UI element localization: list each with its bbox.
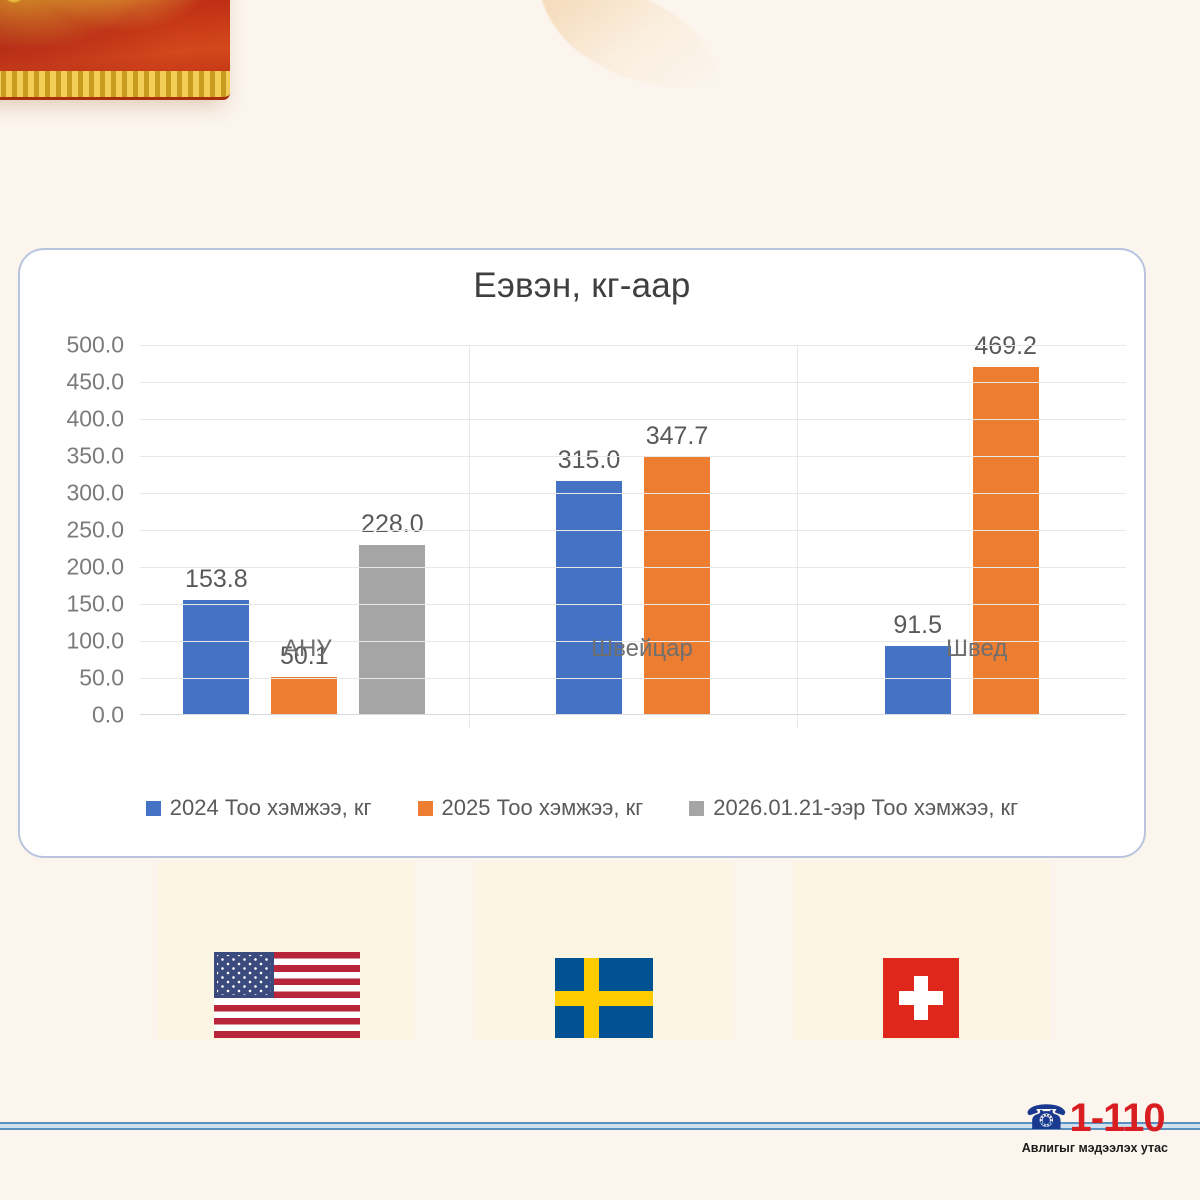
y-axis: 500.0450.0400.0350.0300.0250.0200.0150.0… bbox=[42, 345, 132, 715]
gridline bbox=[140, 419, 1126, 420]
bar-value-label: 228.0 bbox=[361, 510, 424, 539]
bar[interactable] bbox=[271, 677, 337, 714]
gridline bbox=[140, 493, 1126, 494]
hotline-number: 1-110 bbox=[1070, 1098, 1165, 1138]
united-states-flag-icon bbox=[214, 952, 360, 1038]
bar-value-label: 315.0 bbox=[558, 446, 621, 475]
chart-card: Еэвэн, кг-аар 500.0450.0400.0350.0300.02… bbox=[18, 248, 1146, 858]
legend-label: 2026.01.21-ээр Тоо хэмжээ, кг bbox=[713, 795, 1018, 821]
flag-strip bbox=[158, 862, 1050, 1040]
gridline bbox=[140, 345, 1126, 346]
chart-legend: 2024 Тоо хэмжээ, кг2025 Тоо хэмжээ, кг20… bbox=[20, 795, 1144, 821]
y-axis-tick: 400.0 bbox=[66, 406, 124, 433]
plot-wrapper: 500.0450.0400.0350.0300.0250.0200.0150.0… bbox=[42, 345, 1126, 735]
legend-swatch-icon bbox=[146, 801, 161, 816]
switzerland-flag-icon bbox=[883, 958, 959, 1038]
bar-value-label: 469.2 bbox=[974, 332, 1037, 361]
y-axis-tick: 250.0 bbox=[66, 517, 124, 544]
gridline bbox=[140, 604, 1126, 605]
gridline bbox=[140, 382, 1126, 383]
header-ornament bbox=[0, 0, 1200, 200]
y-axis-tick: 0.0 bbox=[92, 702, 124, 729]
legend-label: 2024 Тоо хэмжээ, кг bbox=[170, 795, 372, 821]
gridline bbox=[140, 567, 1126, 568]
bar[interactable] bbox=[556, 481, 622, 714]
y-axis-tick: 100.0 bbox=[66, 628, 124, 655]
bar[interactable] bbox=[359, 545, 425, 714]
bar-value-label: 153.8 bbox=[185, 565, 248, 594]
y-axis-tick: 450.0 bbox=[66, 369, 124, 396]
y-axis-tick: 200.0 bbox=[66, 554, 124, 581]
gridline bbox=[140, 456, 1126, 457]
phone-icon: ☎ bbox=[1025, 1101, 1067, 1135]
y-axis-tick: 500.0 bbox=[66, 332, 124, 359]
x-axis-tick: АНУ bbox=[140, 635, 475, 663]
ornament-crown-icon bbox=[0, 0, 230, 100]
hotline-logo: ☎ 1-110 Авлигыг мэдээлэх утас bbox=[1022, 1098, 1168, 1155]
flag-panel-sweden bbox=[475, 862, 732, 1040]
gridline bbox=[140, 678, 1126, 679]
x-axis: АНУШвейцарШвед bbox=[140, 635, 1144, 663]
legend-item[interactable]: 2026.01.21-ээр Тоо хэмжээ, кг bbox=[689, 795, 1018, 821]
feather-swoosh-icon bbox=[539, 0, 721, 105]
x-axis-tick: Швейцар bbox=[475, 635, 810, 663]
category-separator bbox=[469, 345, 470, 728]
bar[interactable] bbox=[644, 457, 710, 714]
hotline-tagline: Авлигыг мэдээлэх утас bbox=[1022, 1141, 1168, 1155]
flag-panel-switzerland bbox=[793, 862, 1050, 1040]
footer-divider bbox=[0, 1122, 1200, 1130]
sweden-flag-icon bbox=[555, 958, 653, 1038]
legend-swatch-icon bbox=[418, 801, 433, 816]
flag-panel-united-states bbox=[158, 862, 415, 1040]
x-axis-tick: Швед bbox=[809, 635, 1144, 663]
gridline bbox=[140, 530, 1126, 531]
legend-swatch-icon bbox=[689, 801, 704, 816]
legend-item[interactable]: 2025 Тоо хэмжээ, кг bbox=[418, 795, 644, 821]
y-axis-tick: 300.0 bbox=[66, 480, 124, 507]
bar-value-label: 347.7 bbox=[646, 422, 709, 451]
legend-item[interactable]: 2024 Тоо хэмжээ, кг bbox=[146, 795, 372, 821]
legend-label: 2025 Тоо хэмжээ, кг bbox=[442, 795, 644, 821]
y-axis-tick: 150.0 bbox=[66, 591, 124, 618]
y-axis-tick: 50.0 bbox=[79, 665, 124, 692]
chart-title: Еэвэн, кг-аар bbox=[20, 266, 1144, 306]
y-axis-tick: 350.0 bbox=[66, 443, 124, 470]
category-separator bbox=[797, 345, 798, 728]
